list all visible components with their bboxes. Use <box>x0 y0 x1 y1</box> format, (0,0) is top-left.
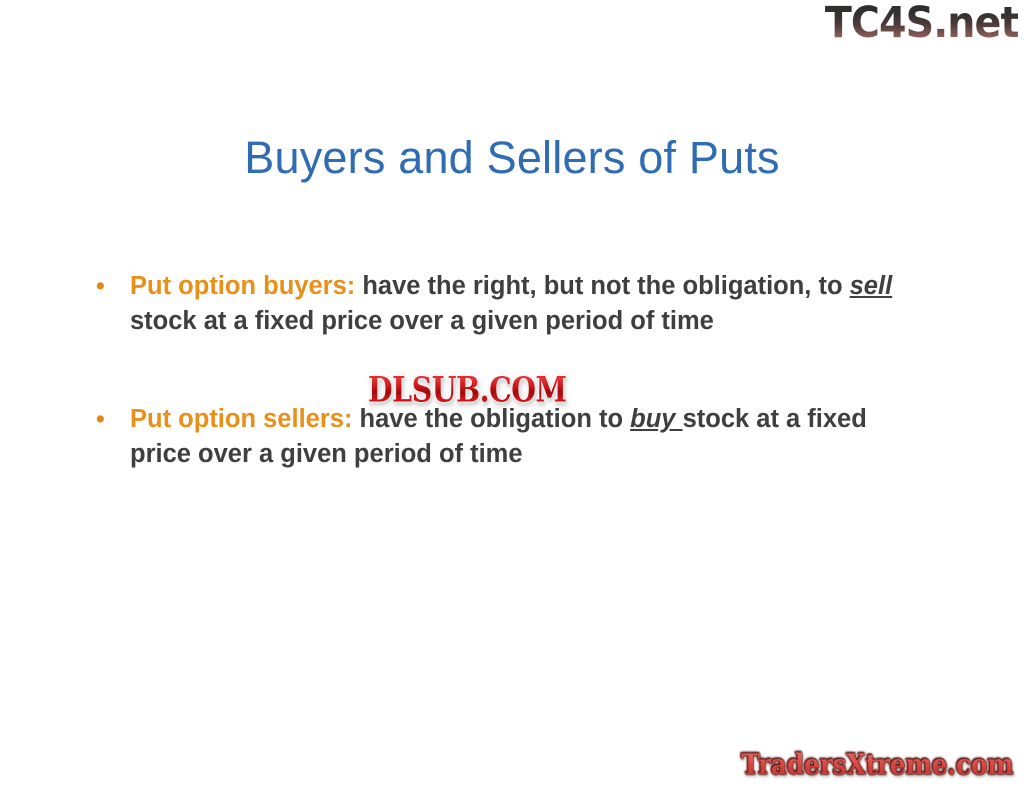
bullet-body-part-1: have the right, but not the obligation, … <box>355 272 849 300</box>
slide-title: Buyers and Sellers of Puts <box>0 132 1024 184</box>
bullet-text: Put option buyers: have the right, but n… <box>130 269 932 338</box>
bullet-lead-label: Put option sellers: <box>130 405 352 433</box>
bullet-emphasis-sell: sell <box>850 272 893 300</box>
slide-canvas: TC4S.net Buyers and Sellers of Puts • Pu… <box>0 0 1024 791</box>
bullet-text: Put option sellers: have the obligation … <box>130 402 932 471</box>
tradersxtreme-watermark: TradersXtreme.com <box>742 751 1014 779</box>
bullet-item-put-option-sellers: • Put option sellers: have the obligatio… <box>96 402 932 471</box>
bullet-marker-icon: • <box>96 402 130 436</box>
bullet-body-part-2: stock at a fixed price over a given peri… <box>130 307 714 335</box>
bullet-marker-icon: • <box>96 269 130 303</box>
dlsub-watermark: DLSUB.COM <box>368 372 567 407</box>
bullet-item-put-option-buyers: • Put option buyers: have the right, but… <box>96 269 932 338</box>
bullet-emphasis-buy: buy <box>630 405 682 433</box>
tc4s-watermark: TC4S.net <box>824 2 1018 45</box>
bullet-lead-label: Put option buyers: <box>130 272 355 300</box>
